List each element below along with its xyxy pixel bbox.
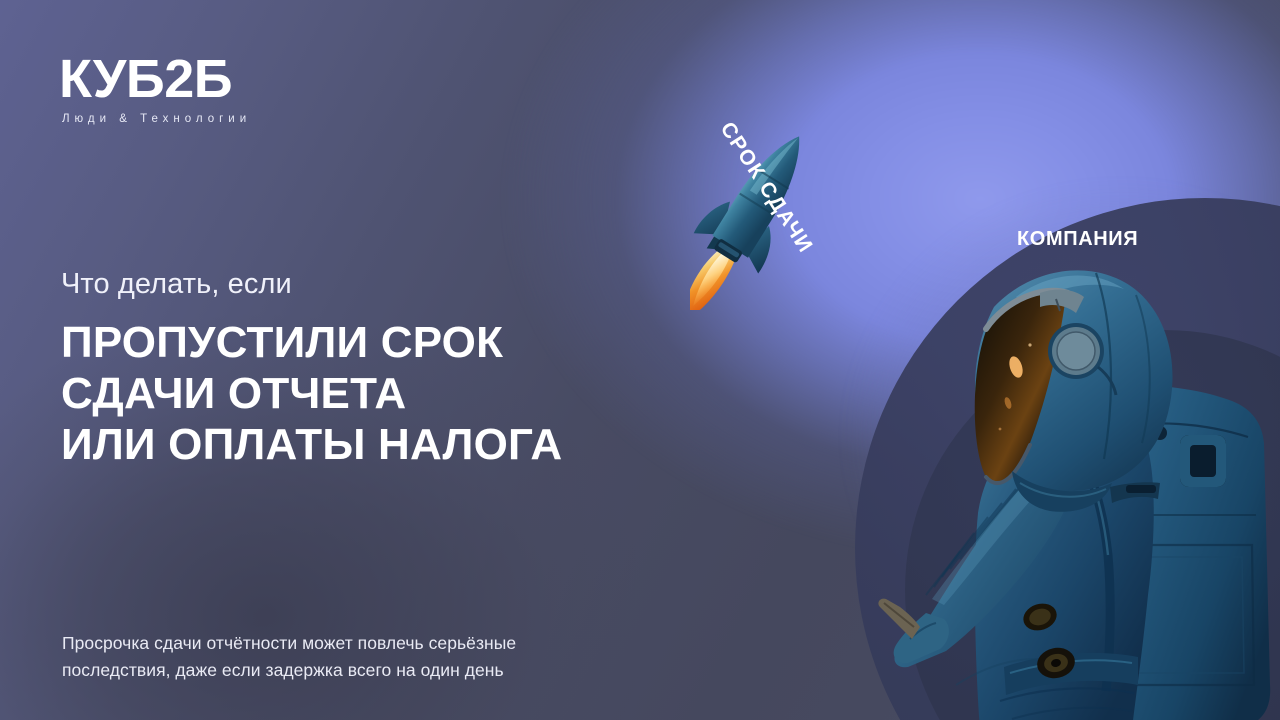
headline-line-2: СДАЧИ ОТЧЕТА bbox=[61, 368, 701, 419]
hero-headline: ПРОПУСТИЛИ СРОК СДАЧИ ОТЧЕТА ИЛИ ОПЛАТЫ … bbox=[61, 317, 701, 470]
hero-subcaption: Просрочка сдачи отчётности может повлечь… bbox=[62, 630, 702, 683]
presentation-slide: КУБ2Б Люди & Технологии bbox=[0, 0, 1280, 720]
subcaption-line-1: Просрочка сдачи отчётности может повлечь… bbox=[62, 630, 702, 657]
logo-tagline: Люди & Технологии bbox=[62, 113, 389, 125]
hero-eyebrow: Что делать, если bbox=[61, 268, 701, 301]
logo-wordmark: КУБ2Б bbox=[59, 52, 389, 106]
headline-line-1: ПРОПУСТИЛИ СРОК bbox=[61, 317, 701, 368]
hero-text-block: Что делать, если ПРОПУСТИЛИ СРОК СДАЧИ О… bbox=[61, 268, 701, 470]
brand-logo[interactable]: КУБ2Б Люди & Технологии bbox=[59, 52, 389, 125]
subcaption-line-2: последствия, даже если задержка всего на… bbox=[62, 657, 702, 684]
headline-line-3: ИЛИ ОПЛАТЫ НАЛОГА bbox=[61, 419, 701, 470]
astronaut-illustration bbox=[860, 215, 1280, 720]
rocket-icon bbox=[690, 110, 820, 310]
